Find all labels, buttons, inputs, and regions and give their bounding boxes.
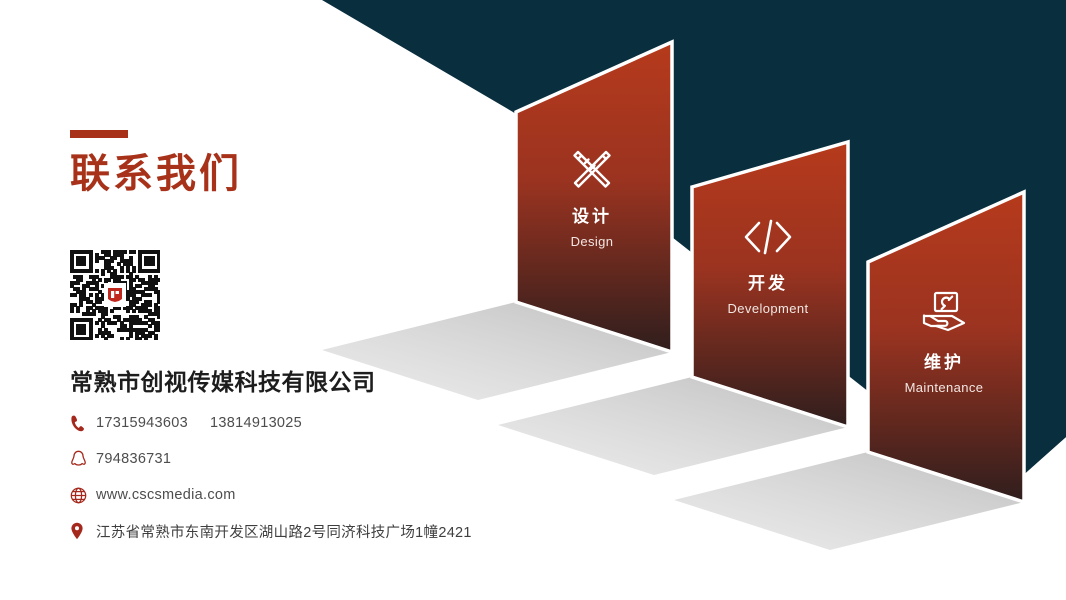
globe-icon — [70, 484, 96, 506]
contact-row-website[interactable]: www.cscsmedia.com — [70, 480, 490, 510]
company-name: 常熟市创视传媒科技有限公司 — [70, 363, 376, 397]
contact-details-list: 17315943603 13814913025 794836731 — [70, 408, 490, 552]
website-url: www.cscsmedia.com — [96, 487, 236, 503]
contact-row-qq[interactable]: 794836731 — [70, 444, 490, 474]
qr-code[interactable] — [70, 250, 160, 340]
page-title: 联系我们 — [70, 152, 490, 196]
service-panel-maintenance — [868, 192, 1024, 502]
contact-section: 联系我们 常熟市创视传媒科技有限公司 17315943603 138149130… — [70, 130, 490, 196]
service-panel-design — [516, 42, 672, 352]
qq-number: 794836731 — [96, 451, 171, 467]
contact-row-phone[interactable]: 17315943603 13814913025 — [70, 408, 490, 438]
qq-icon — [70, 448, 96, 470]
contact-row-address[interactable]: 江苏省常熟市东南开发区湖山路2号同济科技广场1幢2421 — [70, 516, 490, 546]
location-pin-icon — [70, 520, 96, 542]
qr-code-canvas[interactable] — [70, 250, 160, 340]
address-text: 江苏省常熟市东南开发区湖山路2号同济科技广场1幢2421 — [96, 521, 472, 542]
phone-icon — [70, 412, 96, 434]
slide-canvas: 设计 Design 开发 Development 维护 Maintenan — [0, 0, 1066, 600]
title-underline-rule — [70, 130, 128, 138]
phone-number-secondary: 13814913025 — [210, 415, 302, 431]
service-panel-development — [692, 142, 848, 427]
phone-number-primary: 17315943603 — [96, 415, 188, 431]
